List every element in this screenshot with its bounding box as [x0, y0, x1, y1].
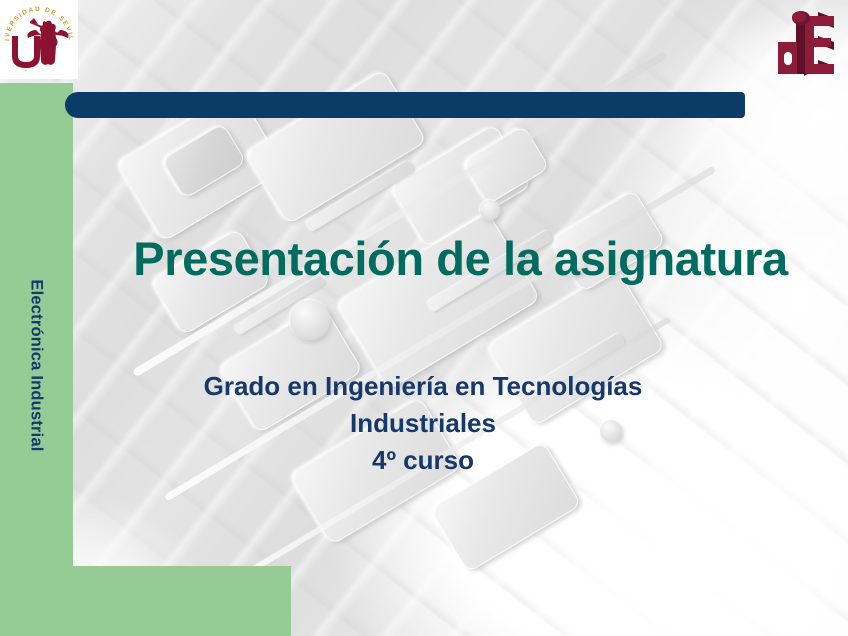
universidad-seal-icon: UNIVERSIDAD DE SEVILLA ·	[0, 0, 78, 79]
de-logo-icon	[774, 8, 838, 78]
presentation-slide: Electrónica Industrial UNIVERSIDAD DE SE…	[0, 0, 848, 636]
page-subtitle: Grado en Ingeniería en Tecnologías Indus…	[73, 368, 773, 479]
subtitle-line-2: Industriales	[73, 405, 773, 442]
subtitle-line-1: Grado en Ingeniería en Tecnologías	[73, 368, 773, 405]
subject-side-label: Electrónica Industrial	[0, 200, 73, 530]
navy-title-bar	[65, 92, 745, 118]
subtitle-line-3: 4º curso	[73, 442, 773, 479]
universidad-de-sevilla-logo: UNIVERSIDAD DE SEVILLA ·	[0, 0, 78, 79]
green-bottom-band	[0, 566, 291, 636]
green-corner-notch	[73, 566, 107, 600]
departamento-de-electronica-logo	[774, 8, 838, 78]
subject-side-label-text: Electrónica Industrial	[27, 279, 46, 451]
page-title: Presentación de la asignatura	[73, 234, 848, 285]
